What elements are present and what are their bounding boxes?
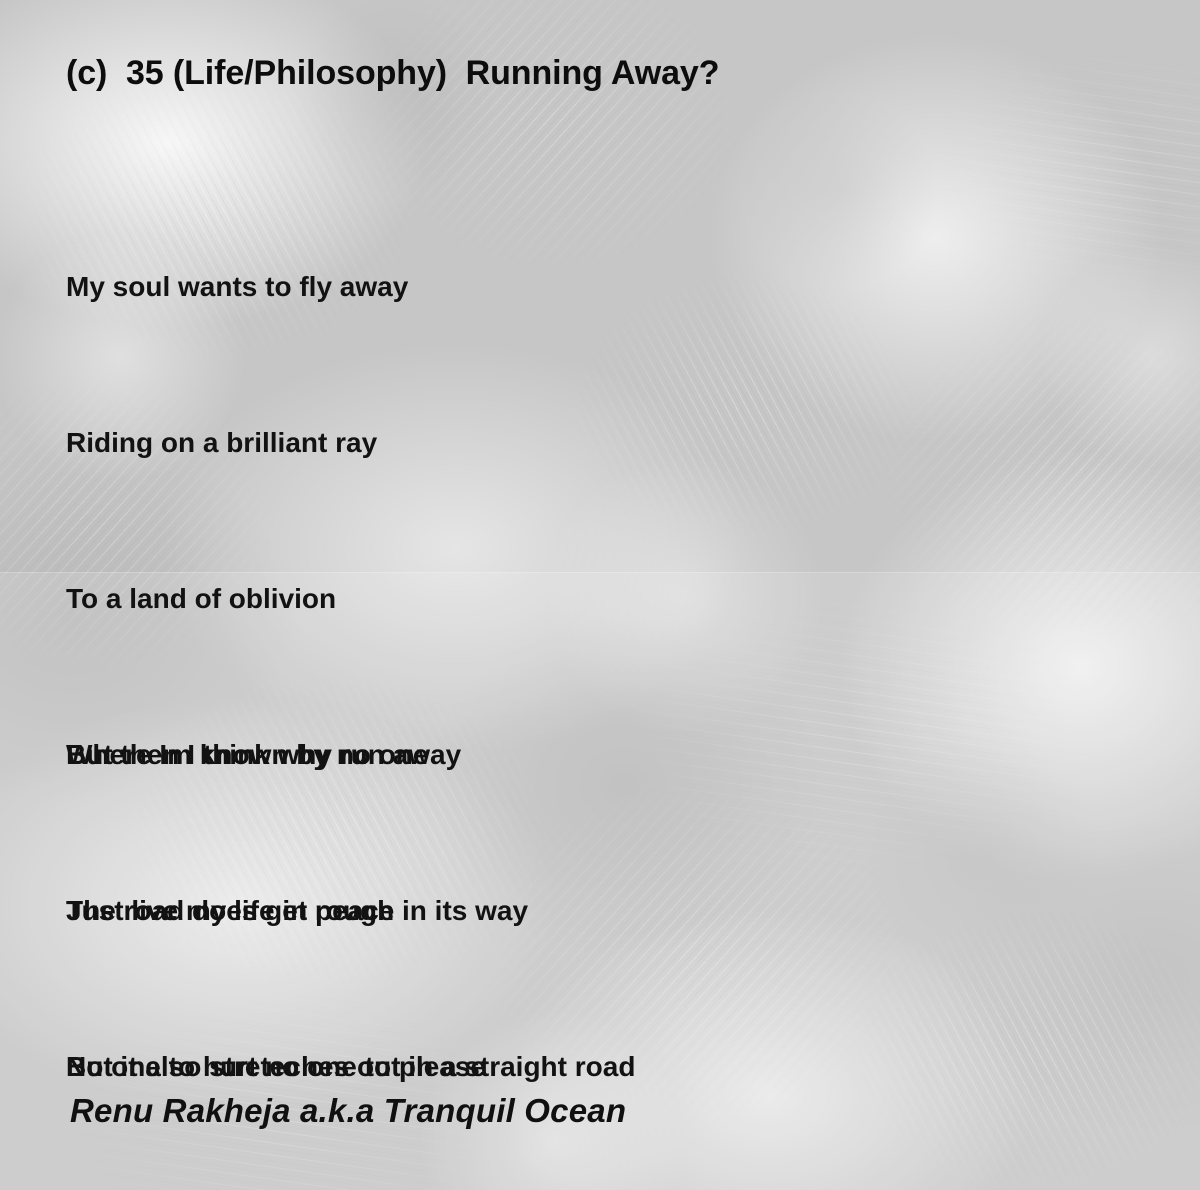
poem-line: To a land of oblivion [66, 573, 495, 625]
poem-title: (c) 35 (Life/Philosophy) Running Away? [66, 54, 719, 93]
author-credit: Renu Rakheja a.k.a Tranquil Ocean [70, 1092, 626, 1130]
poem-line: Riding on a brilliant ray [66, 417, 495, 469]
poem-content: (c) 35 (Life/Philosophy) Running Away? M… [0, 0, 1200, 1190]
poem-line: But then I think why run away [66, 729, 735, 781]
poem-line: But it also streteches out in a straight… [66, 1041, 735, 1093]
poem-line: My soul wants to fly away [66, 261, 495, 313]
poem-line: The road does get rough in its way [66, 885, 735, 937]
poem-image-canvas: (c) 35 (Life/Philosophy) Running Away? M… [0, 0, 1200, 1190]
